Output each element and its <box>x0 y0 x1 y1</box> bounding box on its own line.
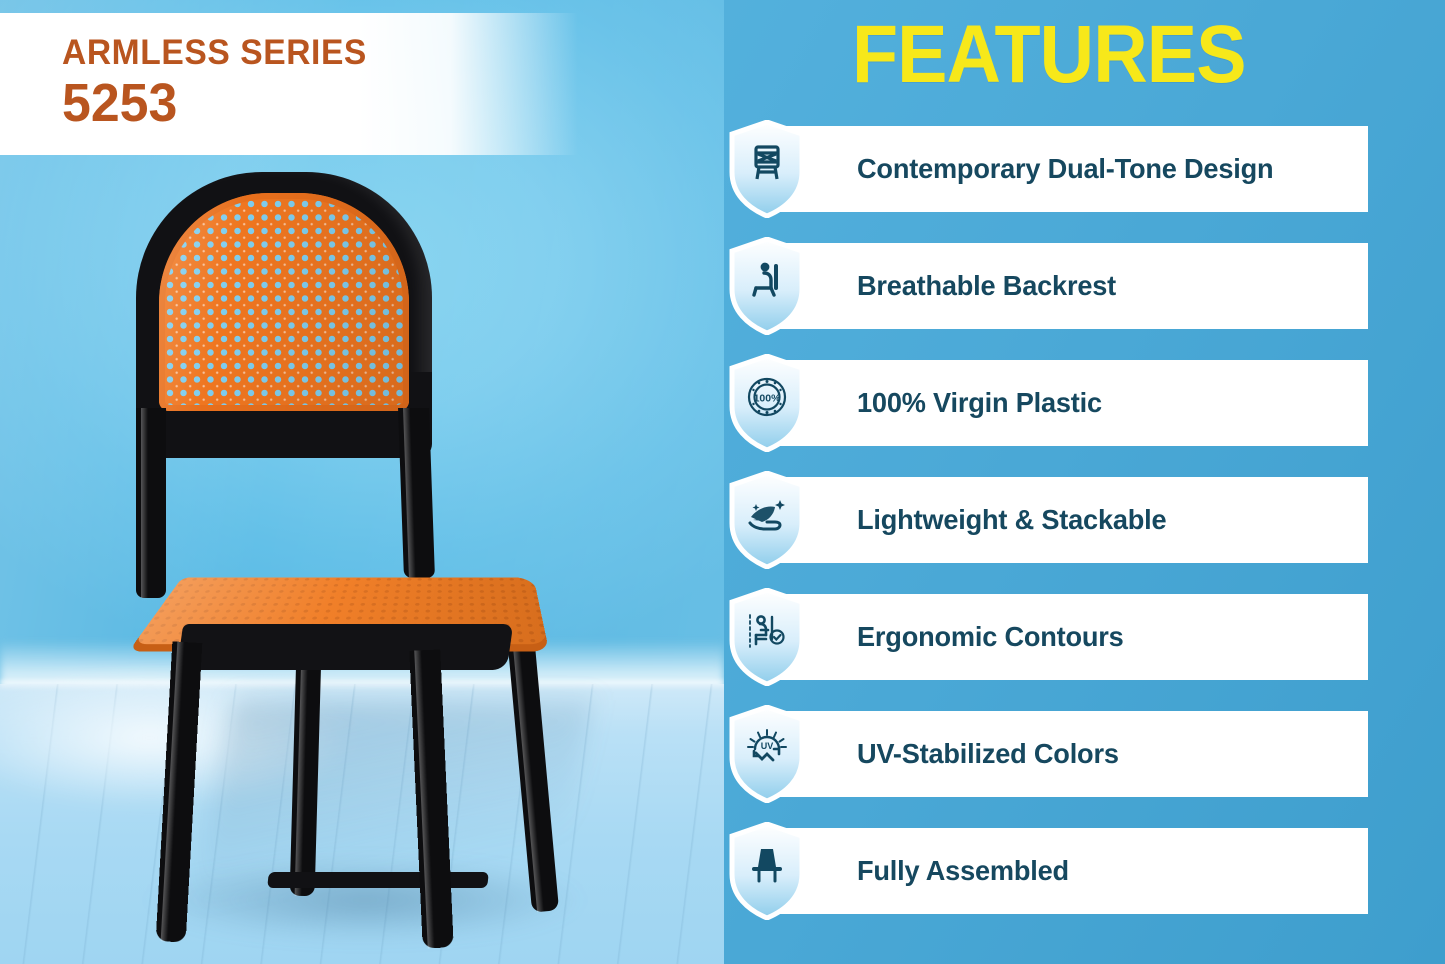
feature-label: Lightweight & Stackable <box>857 477 1166 563</box>
chair-back-right-leg <box>504 599 559 912</box>
chair-right-stile <box>398 408 435 578</box>
ergonomic-posture-icon <box>728 588 806 686</box>
feature-label: UV-Stabilized Colors <box>857 711 1119 797</box>
product-title-banner: ARMLESS SERIES 5253 <box>0 13 578 155</box>
seated-person-icon <box>728 237 806 335</box>
product-scene: ARMLESS SERIES 5253 <box>0 0 724 964</box>
feature-label: Contemporary Dual-Tone Design <box>857 126 1273 212</box>
feature-label: Breathable Backrest <box>857 243 1116 329</box>
chair-back-icon <box>728 120 806 218</box>
svg-text:100%: 100% <box>754 393 782 405</box>
chair-front-right-leg <box>409 649 453 948</box>
series-label: ARMLESS SERIES <box>62 35 557 72</box>
uv-sun-icon: UV <box>728 705 806 803</box>
chair-backrest-mesh <box>159 193 409 411</box>
feature-label: Fully Assembled <box>857 828 1069 914</box>
assembled-chair-icon <box>728 822 806 920</box>
features-panel: FEATURES Contemporary Dual-Tone Design <box>724 0 1445 964</box>
product-feature-poster: ARMLESS SERIES 5253 FEATURES Contemp <box>0 0 1445 964</box>
features-list: Contemporary Dual-Tone Design Breathable… <box>724 126 1445 945</box>
feature-label: Ergonomic Contours <box>857 594 1124 680</box>
feature-row[interactable]: 100% 100% Virgin Plastic <box>724 360 1445 446</box>
chair-front-left-leg <box>156 641 203 942</box>
hundred-percent-icon: 100% <box>728 354 806 452</box>
feature-row[interactable]: Lightweight & Stackable <box>724 477 1445 563</box>
feature-row[interactable]: Contemporary Dual-Tone Design <box>724 126 1445 212</box>
backrest-gloss <box>159 193 409 411</box>
feature-label: 100% Virgin Plastic <box>857 360 1102 446</box>
features-heading: FEATURES <box>852 14 1246 96</box>
chair-stretcher-bar <box>267 872 489 888</box>
feature-row[interactable]: Breathable Backrest <box>724 243 1445 329</box>
model-number: 5253 <box>62 74 557 132</box>
chair-product-image <box>118 172 588 912</box>
svg-text:UV: UV <box>761 741 774 751</box>
feature-row[interactable]: UV UV-Stabilized Colors <box>724 711 1445 797</box>
chair-seat-apron <box>177 624 513 670</box>
hand-feather-icon <box>728 471 806 569</box>
chair-left-stile <box>136 408 166 598</box>
feature-row[interactable]: Fully Assembled <box>724 828 1445 914</box>
feature-row[interactable]: Ergonomic Contours <box>724 594 1445 680</box>
